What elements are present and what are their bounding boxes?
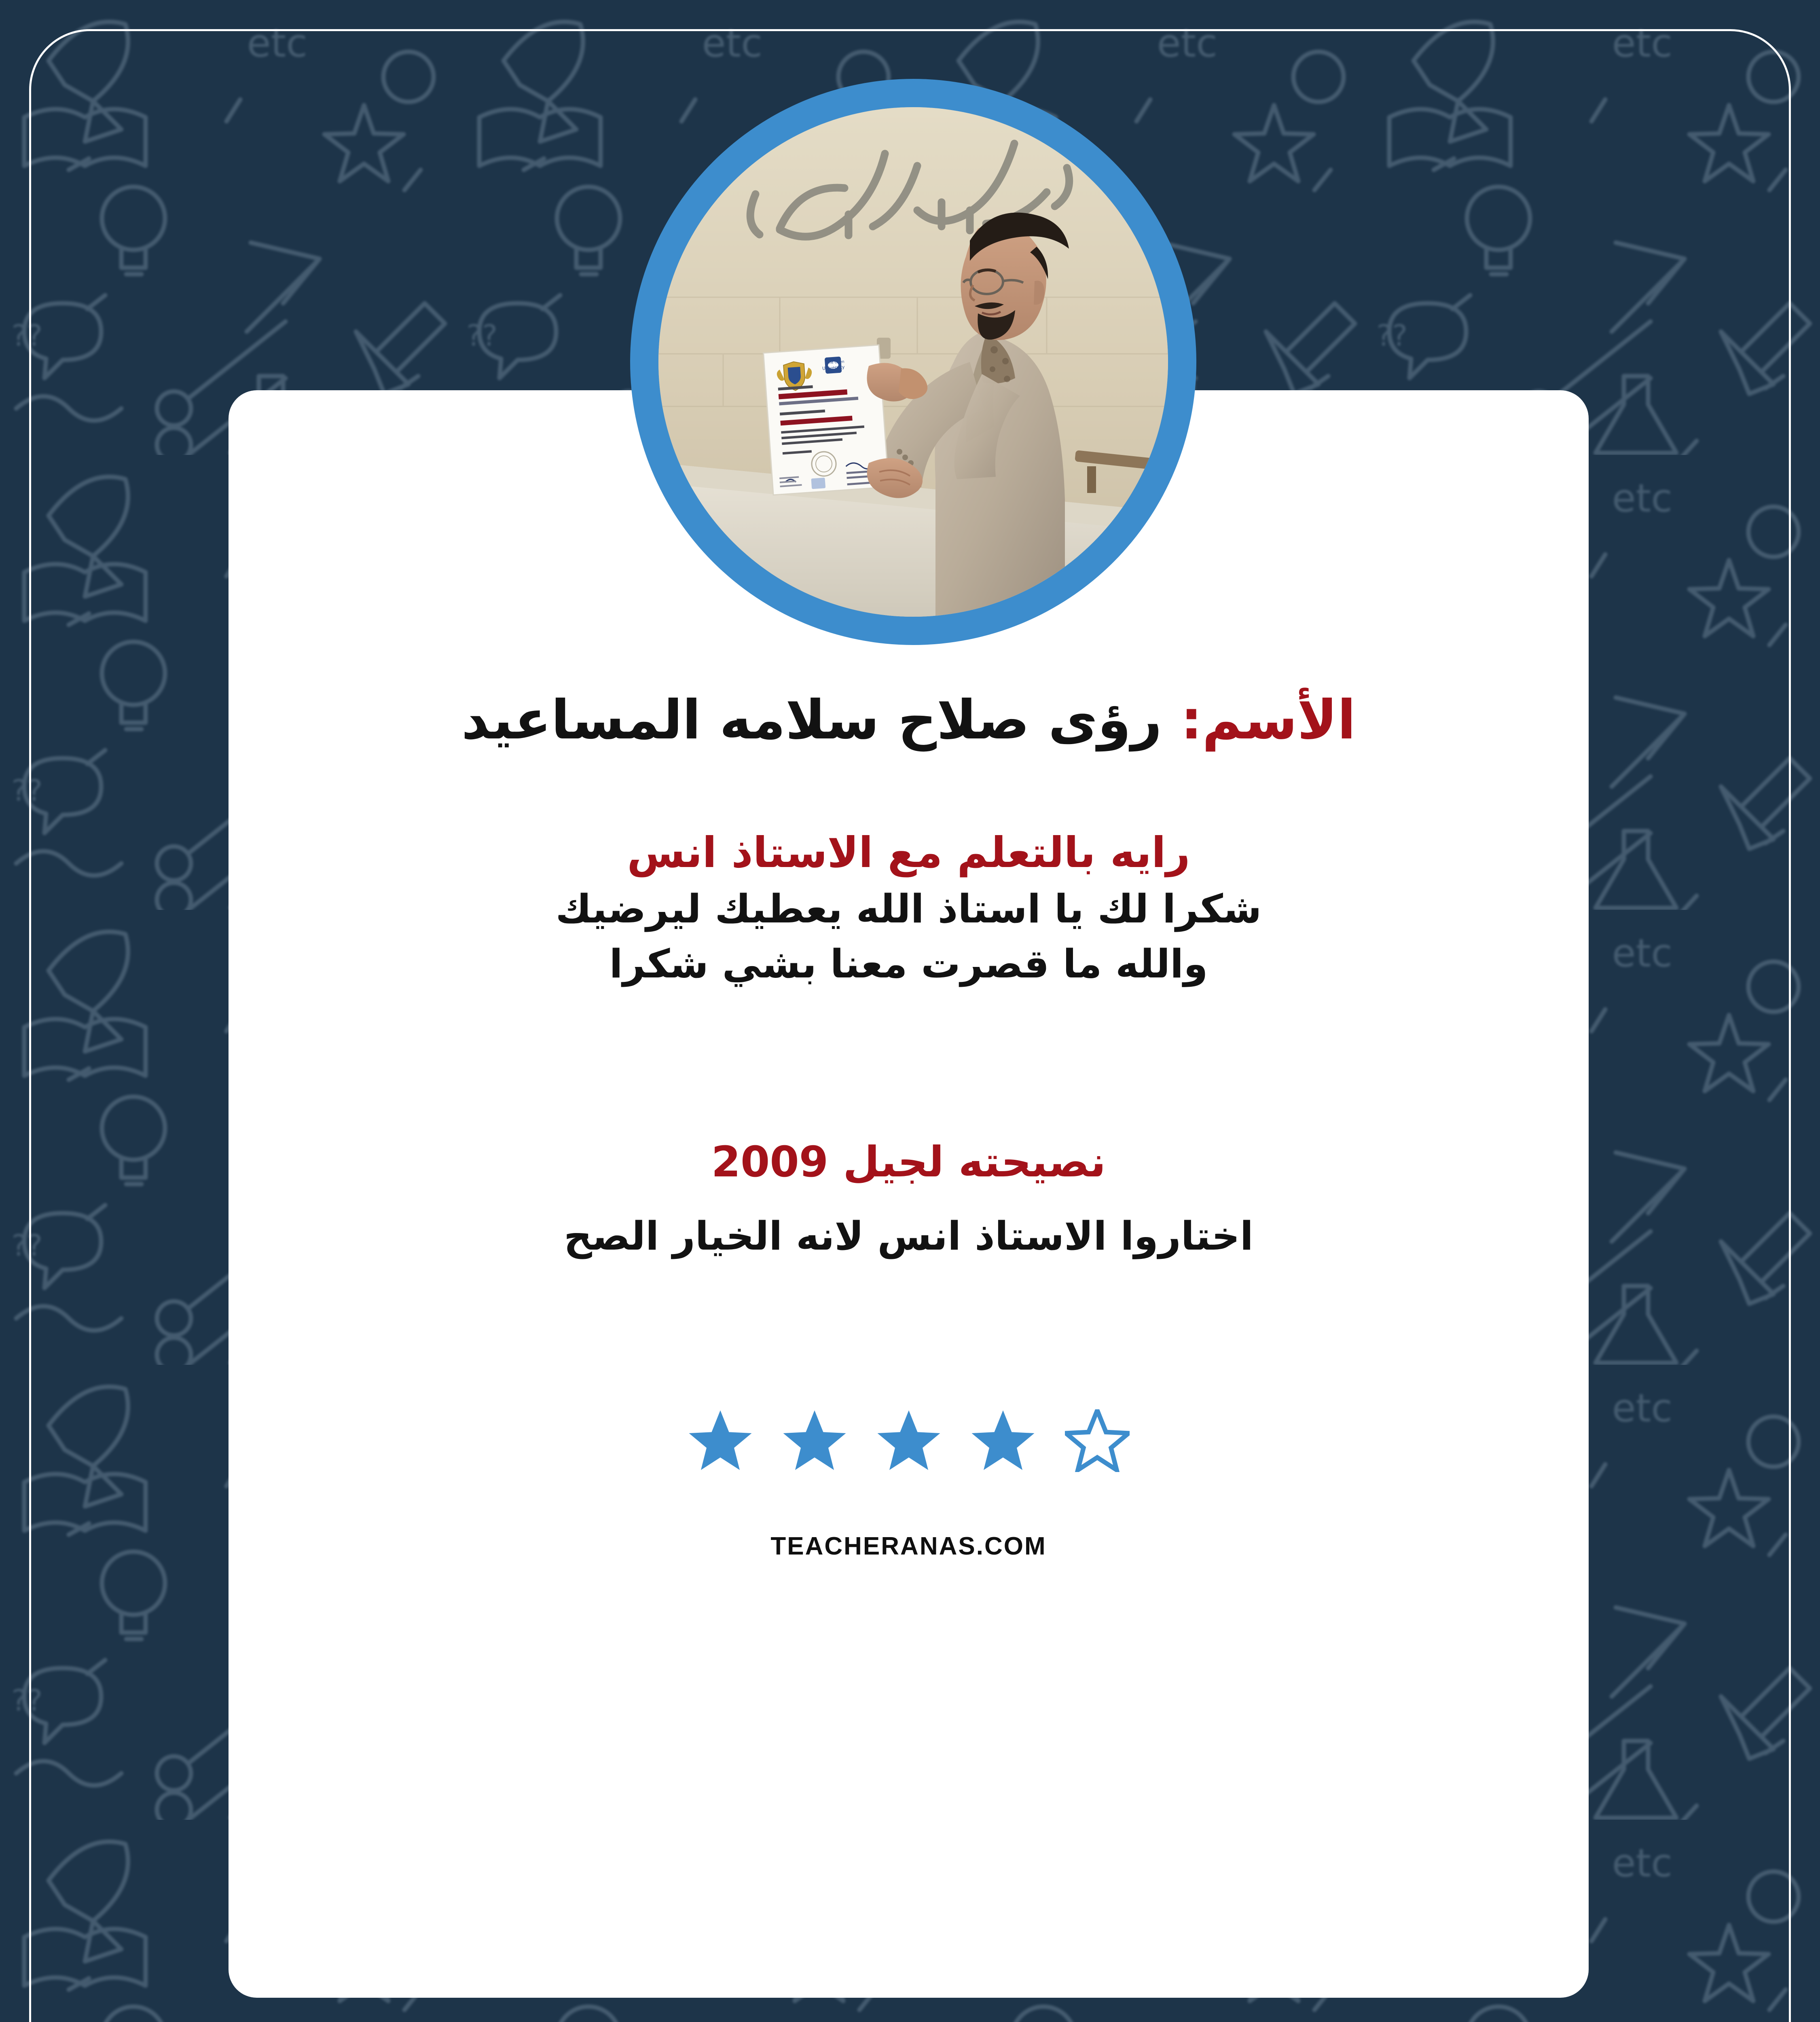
star-filled-icon <box>782 1409 847 1472</box>
avatar-photo: The Open University <box>658 107 1168 617</box>
star-filled-icon <box>688 1409 753 1472</box>
advice-heading: نصيحته لجيل 2009 <box>273 1137 1544 1187</box>
star-filled-icon <box>876 1409 941 1472</box>
testimonial-poster: etc ?? <box>0 0 1820 2022</box>
student-name-row: الأسم: رؤى صلاح سلامه المساعيد <box>273 690 1544 751</box>
student-name-value: رؤى صلاح سلامه المساعيد <box>461 689 1162 751</box>
star-empty-icon <box>1065 1409 1130 1472</box>
website-footer: TEACHERANAS.COM <box>273 1532 1544 1561</box>
rating-stars <box>273 1409 1544 1472</box>
review-body-line-2: والله ما قصرت معنا بشي شكرا <box>273 940 1544 988</box>
avatar: The Open University <box>630 79 1196 645</box>
advice-body: اختاروا الاستاذ انس لانه الخيار الصح <box>273 1212 1544 1260</box>
star-filled-icon <box>971 1409 1035 1472</box>
review-heading: رايه بالتعلم مع الاستاذ انس <box>273 827 1544 878</box>
review-body-line-1: شكرا لك يا استاذ الله يعطيك ليرضيك <box>273 885 1544 933</box>
review-section: رايه بالتعلم مع الاستاذ انس شكرا لك يا ا… <box>273 827 1544 988</box>
name-label: الأسم: <box>1181 689 1356 751</box>
advice-section: نصيحته لجيل 2009 اختاروا الاستاذ انس لان… <box>273 1137 1544 1260</box>
